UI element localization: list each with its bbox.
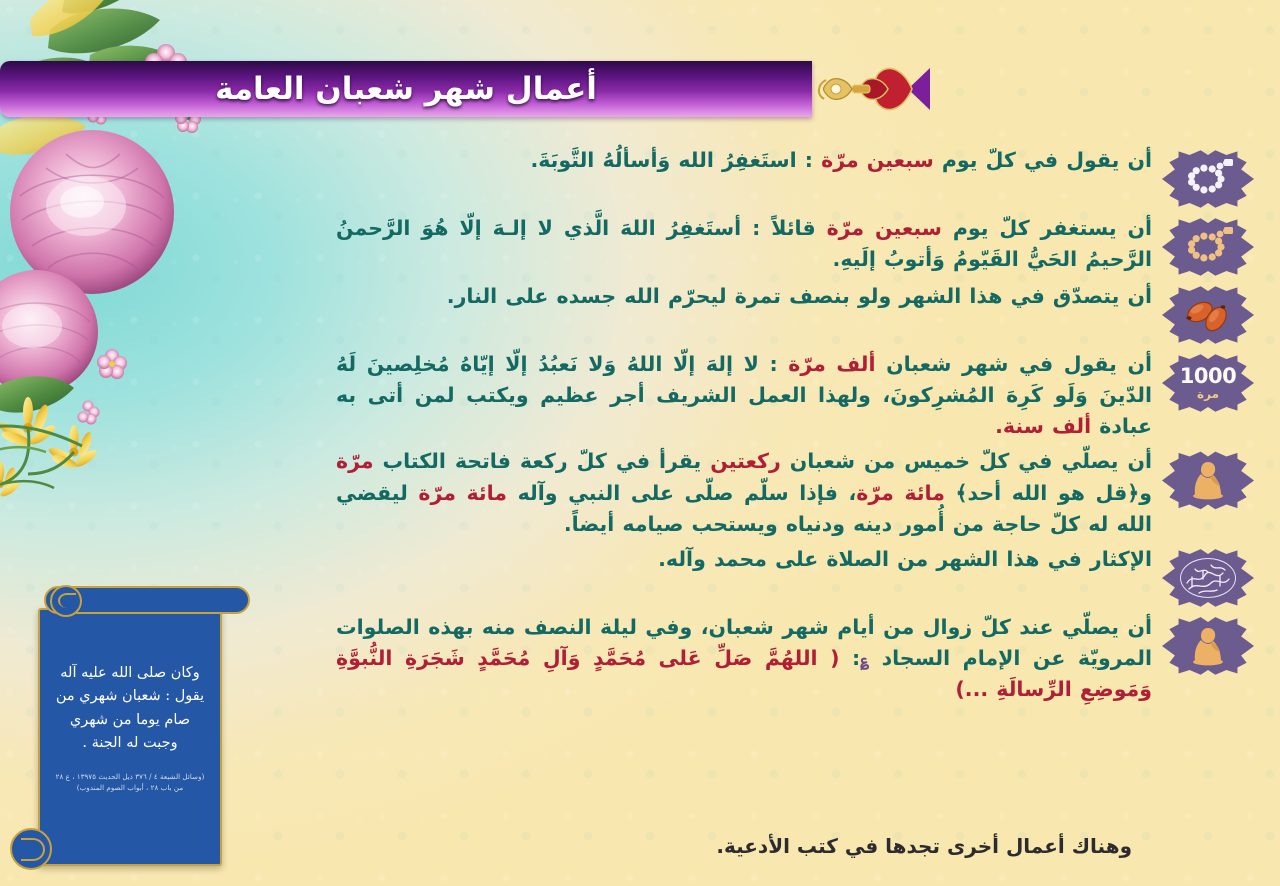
practice-badge-cell bbox=[1152, 544, 1264, 608]
practice-text-segment: مائة مرّة bbox=[856, 481, 945, 505]
praying-person-icon bbox=[1162, 616, 1254, 676]
page-title-banner: أعمال شهر شعبان العامة bbox=[0, 58, 1280, 120]
practice-text-segment: : استَغفِرُ الله وَأسألُهُ التَّوبَةَ. bbox=[530, 148, 821, 172]
practice-badge-cell bbox=[1152, 281, 1264, 345]
prayer-beads-gold-icon bbox=[1180, 225, 1236, 269]
title-ornament-icon bbox=[812, 58, 932, 120]
practice-text-segment: ألف مرّة bbox=[788, 352, 875, 376]
page-root: أعمال شهر شعبان العامة أن يقول في كلّ يو… bbox=[0, 0, 1280, 886]
practice-text-cell: الإكثار في هذا الشهر من الصلاة على محمد … bbox=[324, 544, 1152, 575]
practice-text: الإكثار في هذا الشهر من الصلاة على محمد … bbox=[336, 544, 1152, 575]
practice-text-segment: ، فإذا سلّم صلّى على النبي وآله bbox=[507, 481, 856, 505]
praying-person-icon bbox=[1185, 457, 1231, 503]
practice-text-segment: الإكثار في هذا الشهر من الصلاة على محمد … bbox=[658, 547, 1152, 571]
practice-row: أن يستغفر كلّ يوم سبعين مرّة قائلاً : أس… bbox=[324, 213, 1264, 277]
practice-text-segment: سبعين مرّة bbox=[821, 148, 934, 172]
practice-text-segment: أن يقول في شهر شعبان bbox=[876, 352, 1152, 376]
practice-text: أن يقول في شهر شعبان ألف مرّة : لا إلهَ … bbox=[336, 349, 1152, 442]
dates-fruit-icon bbox=[1179, 295, 1237, 335]
practice-text-cell: أن يستغفر كلّ يوم سبعين مرّة قائلاً : أس… bbox=[324, 213, 1152, 275]
footer-note: وهناك أعمال أخرى تجدها في كتب الأدعية. bbox=[716, 834, 1132, 858]
practice-badge-cell: 1000مرة bbox=[1152, 349, 1264, 413]
practice-row: أن يصلّي في كلّ خميس من شعبان ركعتين يقر… bbox=[324, 446, 1264, 539]
practice-text-segment: أن يستغفر كلّ يوم bbox=[942, 216, 1152, 240]
practice-row: أن يصلّي عند كلّ زوال من أيام شهر شعبان،… bbox=[324, 612, 1264, 705]
hadith-source-citation: (وسائل الشيعة ٤ / ٣٧٦ ذيل الحديث ١٣٩٧٥ ،… bbox=[54, 772, 206, 794]
practice-text-segment: سبعين مرّة bbox=[827, 216, 942, 240]
practice-text-segment: ألف سنة. bbox=[995, 414, 1091, 438]
prayer-beads-gold-icon bbox=[1162, 217, 1254, 277]
dates-fruit-icon bbox=[1162, 285, 1254, 345]
practice-text-segment: و﴿قل هو الله أحد﴾ bbox=[945, 481, 1152, 505]
practice-row: الإكثار في هذا الشهر من الصلاة على محمد … bbox=[324, 544, 1264, 608]
count-badge: 1000مرة bbox=[1180, 366, 1236, 400]
practice-text-segment: أن يقول في كلّ يوم bbox=[934, 148, 1152, 172]
hadith-text: وكان صلى الله عليه آله يقول : شعبان شهري… bbox=[54, 662, 206, 756]
practice-text-cell: أن يصلّي عند كلّ زوال من أيام شهر شعبان،… bbox=[324, 612, 1152, 705]
practice-text-segment: أن يصلّي في كلّ خميس من شعبان bbox=[781, 449, 1152, 473]
prayer-beads-white-icon bbox=[1180, 157, 1236, 201]
practice-text: أن يقول في كلّ يوم سبعين مرّة : استَغفِر… bbox=[336, 145, 1152, 176]
practice-text-cell: أن يقول في شهر شعبان ألف مرّة : لا إلهَ … bbox=[324, 349, 1152, 442]
practice-text-cell: أن يصلّي في كلّ خميس من شعبان ركعتين يقر… bbox=[324, 446, 1152, 539]
prayer-beads-white-icon bbox=[1162, 149, 1254, 209]
practice-row: أن يتصدّق في هذا الشهر ولو بنصف تمرة ليح… bbox=[324, 281, 1264, 345]
practice-text-cell: أن يتصدّق في هذا الشهر ولو بنصف تمرة ليح… bbox=[324, 281, 1152, 312]
practice-text: أن يصلّي عند كلّ زوال من أيام شهر شعبان،… bbox=[336, 612, 1152, 705]
practice-text: أن يصلّي في كلّ خميس من شعبان ركعتين يقر… bbox=[336, 446, 1152, 539]
practice-badge-cell bbox=[1152, 213, 1264, 277]
practice-text-segment: مائة مرّة bbox=[418, 481, 507, 505]
praying-person-icon bbox=[1185, 623, 1231, 669]
practice-text-segment: ؏ bbox=[860, 651, 869, 669]
muhammad-calligraphy-seal-icon bbox=[1180, 558, 1236, 598]
practice-row: أن يقول في كلّ يوم سبعين مرّة : استَغفِر… bbox=[324, 145, 1264, 209]
practice-text-segment: مرّة bbox=[336, 449, 374, 473]
hadith-card: وكان صلى الله عليه آله يقول : شعبان شهري… bbox=[38, 608, 222, 866]
practice-text: أن يستغفر كلّ يوم سبعين مرّة قائلاً : أس… bbox=[336, 213, 1152, 275]
practice-text-segment: أن يتصدّق في هذا الشهر ولو بنصف تمرة ليح… bbox=[447, 284, 1152, 308]
practice-row: 1000مرةأن يقول في شهر شعبان ألف مرّة : ل… bbox=[324, 349, 1264, 442]
practices-list: أن يقول في كلّ يوم سبعين مرّة : استَغفِر… bbox=[324, 145, 1264, 709]
practice-badge-cell bbox=[1152, 446, 1264, 510]
praying-person-icon bbox=[1162, 450, 1254, 510]
practice-text-segment: ركعتين bbox=[710, 449, 780, 473]
thousand-times-badge: 1000مرة bbox=[1162, 353, 1254, 413]
practice-text-segment: يقرأ في كلّ ركعة فاتحة الكتاب bbox=[374, 449, 711, 473]
page-title: أعمال شهر شعبان العامة bbox=[215, 71, 597, 107]
practice-text-cell: أن يقول في كلّ يوم سبعين مرّة : استَغفِر… bbox=[324, 145, 1152, 176]
count-unit: مرة bbox=[1180, 388, 1236, 400]
practice-badge-cell bbox=[1152, 145, 1264, 209]
practice-text: أن يتصدّق في هذا الشهر ولو بنصف تمرة ليح… bbox=[336, 281, 1152, 312]
corner-scroll-ornament bbox=[10, 828, 52, 870]
practice-text-segment: : bbox=[839, 646, 860, 670]
practice-badge-cell bbox=[1152, 612, 1264, 676]
hadith-card-scroll-top bbox=[44, 586, 250, 614]
count-number: 1000 bbox=[1180, 366, 1236, 387]
title-bar: أعمال شهر شعبان العامة bbox=[0, 61, 812, 117]
muhammad-calligraphy-seal-icon bbox=[1162, 548, 1254, 608]
